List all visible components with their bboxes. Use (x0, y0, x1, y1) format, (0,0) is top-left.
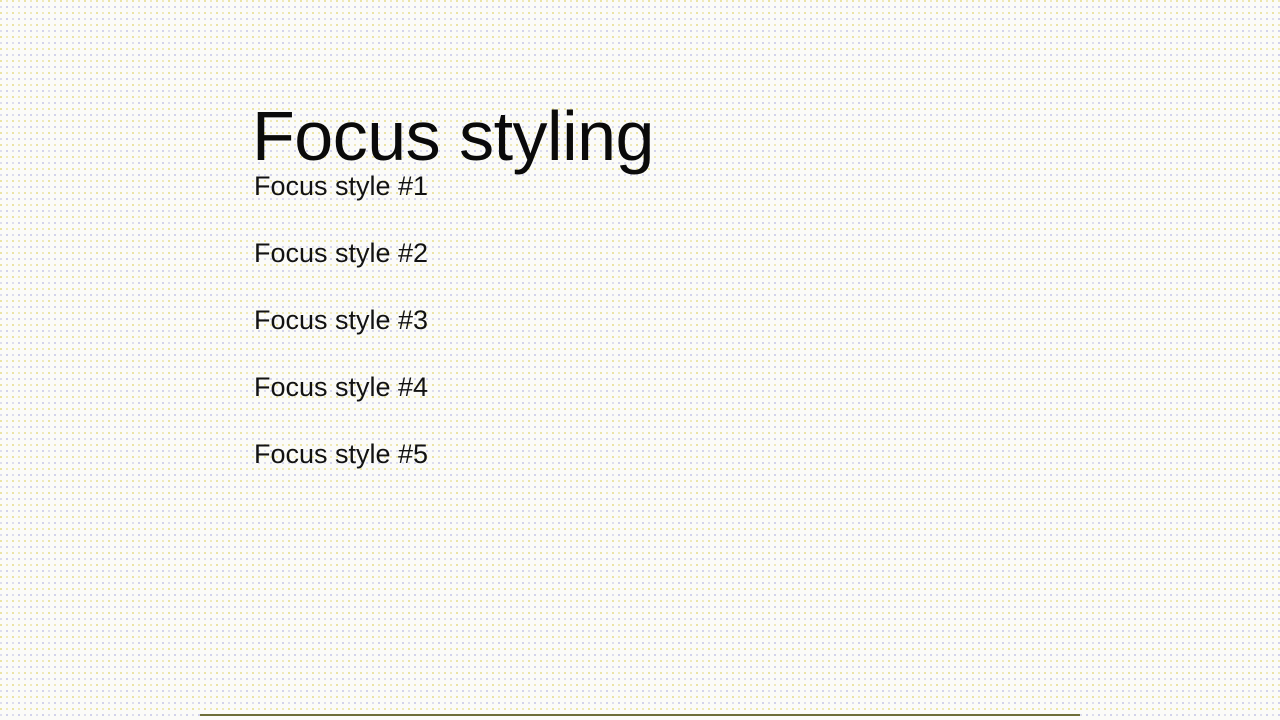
page-title: Focus styling (252, 101, 654, 171)
slide-canvas: Focus styling Focus style #1 Focus style… (0, 0, 1280, 720)
bottom-divider (200, 714, 1080, 716)
list-item[interactable]: Focus style #4 (254, 374, 428, 404)
list-item[interactable]: Focus style #3 (254, 307, 428, 337)
list-item[interactable]: Focus style #2 (254, 240, 428, 270)
focus-style-list: Focus style #1 Focus style #2 Focus styl… (254, 173, 428, 471)
list-item[interactable]: Focus style #1 (254, 173, 428, 203)
list-item[interactable]: Focus style #5 (254, 441, 428, 471)
